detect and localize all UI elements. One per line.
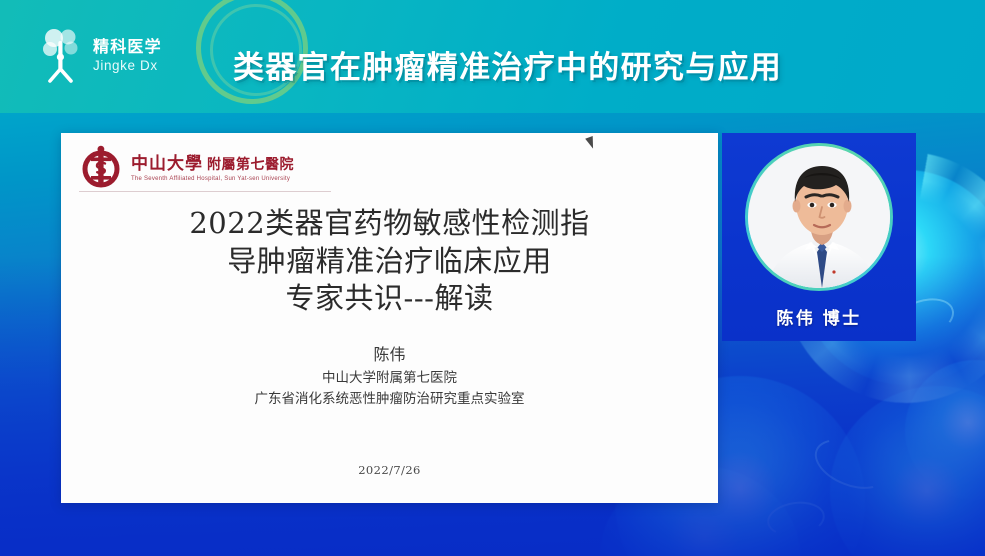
slide-title: 2022类器官药物敏感性检测指 导肿瘤精准治疗临床应用 专家共识---解读 xyxy=(61,205,718,318)
speaker-video-panel[interactable]: 陈伟 博士 xyxy=(722,133,916,341)
hospital-name-en: The Seventh Affiliated Hospital, Sun Yat… xyxy=(131,176,294,182)
mouse-cursor-icon xyxy=(585,136,597,150)
presenter-laboratory: 广东省消化系统恶性肿瘤防治研究重点实验室 xyxy=(61,389,718,411)
hospital-logo-divider xyxy=(79,191,331,192)
page-title: 类器官在肿瘤精准治疗中的研究与应用 xyxy=(233,42,782,87)
slide-title-line: 2022类器官药物敏感性检测指 xyxy=(61,205,718,243)
hospital-logo: 中山大學 附屬第七醫院 The Seventh Affiliated Hospi… xyxy=(79,145,294,189)
sun-yat-sen-hospital-crest-icon xyxy=(79,145,123,189)
presenter-organization: 中山大学附属第七医院 xyxy=(61,368,718,390)
header-bar: 精科医学 Jingke Dx 类器官在肿瘤精准治疗中的研究与应用 xyxy=(0,0,985,113)
speaker-name-label: 陈伟 博士 xyxy=(722,304,916,329)
brand-name-cn: 精科医学 xyxy=(93,39,162,56)
brand-logo: 精科医学 Jingke Dx xyxy=(38,27,162,85)
slide-title-line: 专家共识---解读 xyxy=(61,280,718,318)
tree-molecule-logo-icon xyxy=(38,27,84,85)
slide-date: 2022/7/26 xyxy=(61,463,718,477)
avatar xyxy=(748,146,890,288)
hospital-name-main: 中山大學 xyxy=(131,149,203,174)
hospital-name-sub: 附屬第七醫院 xyxy=(207,154,294,174)
presenter-name: 陈伟 xyxy=(61,343,718,368)
speaker-portrait-avatar xyxy=(748,146,890,288)
webinar-player: 精科医学 Jingke Dx 类器官在肿瘤精准治疗中的研究与应用 中山大學 附屬… xyxy=(0,0,985,556)
slide-presenter-block: 陈伟 中山大学附属第七医院 广东省消化系统恶性肿瘤防治研究重点实验室 xyxy=(61,343,718,411)
presentation-slide[interactable]: 中山大學 附屬第七醫院 The Seventh Affiliated Hospi… xyxy=(61,133,718,503)
avatar-ring xyxy=(745,143,893,291)
slide-title-line: 导肿瘤精准治疗临床应用 xyxy=(61,243,718,281)
brand-name-en: Jingke Dx xyxy=(93,59,162,74)
